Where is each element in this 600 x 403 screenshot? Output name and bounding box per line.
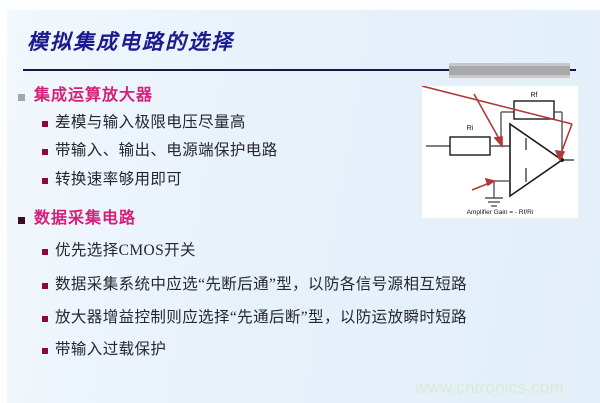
bullet-square-icon	[42, 121, 48, 127]
list-item: 转换速率够用即可	[42, 170, 182, 189]
bullet-square-icon	[18, 217, 25, 224]
bullet-square-icon	[42, 348, 48, 354]
slide-canvas: 模拟集成电路的选择 集成运算放大器 差模与输入极限电压尽量高 带输入、输出、电源…	[0, 0, 600, 403]
op-amp-circuit-figure: Ri Rf	[422, 86, 578, 218]
list-item: 优先选择CMOS开关	[42, 241, 196, 260]
list-item-label: 差模与输入极限电压尽量高	[55, 113, 246, 132]
list-item-label: 带输入过载保护	[55, 340, 166, 359]
section-heading-1: 集成运算放大器	[18, 86, 153, 106]
left-gutter	[0, 0, 7, 403]
list-item: 差模与输入极限电压尽量高	[42, 113, 246, 132]
section-heading-2-label: 数据采集电路	[34, 209, 136, 229]
list-item-label: 数据采集系统中应选“先断后通”型，以防各信号源相互短路	[55, 275, 467, 294]
feedback-resistor-label: Rf	[531, 92, 538, 99]
input-resistor-label: Ri	[467, 125, 474, 132]
list-item: 放大器增益控制则应选择“先通后断”型，以防运放瞬时短路	[42, 308, 467, 327]
bullet-square-icon	[42, 149, 48, 155]
page-title: 模拟集成电路的选择	[27, 26, 234, 56]
bullet-square-icon	[42, 178, 48, 184]
section-heading-1-label: 集成运算放大器	[34, 86, 153, 106]
list-item-label: 优先选择CMOS开关	[55, 241, 196, 260]
gray-accent-bar	[449, 63, 570, 78]
bullet-square-icon	[42, 283, 48, 289]
bullet-square-icon	[42, 316, 48, 322]
list-item-label: 转换速率够用即可	[55, 170, 182, 189]
list-item-label: 带输入、输出、电源端保护电路	[55, 141, 278, 160]
site-watermark: www.cntronics.com	[415, 378, 564, 398]
list-item: 带输入过载保护	[42, 340, 166, 359]
list-item: 带输入、输出、电源端保护电路	[42, 141, 278, 160]
figure-caption: Amplifier Gain = - Rf/Ri	[467, 209, 534, 216]
bullet-square-icon	[42, 249, 48, 255]
section-heading-2: 数据采集电路	[18, 209, 136, 229]
bullet-square-icon	[18, 94, 25, 101]
top-gutter	[0, 0, 600, 10]
list-item-label: 放大器增益控制则应选择“先通后断”型，以防运放瞬时短路	[55, 308, 467, 327]
list-item: 数据采集系统中应选“先断后通”型，以防各信号源相互短路	[42, 275, 467, 294]
